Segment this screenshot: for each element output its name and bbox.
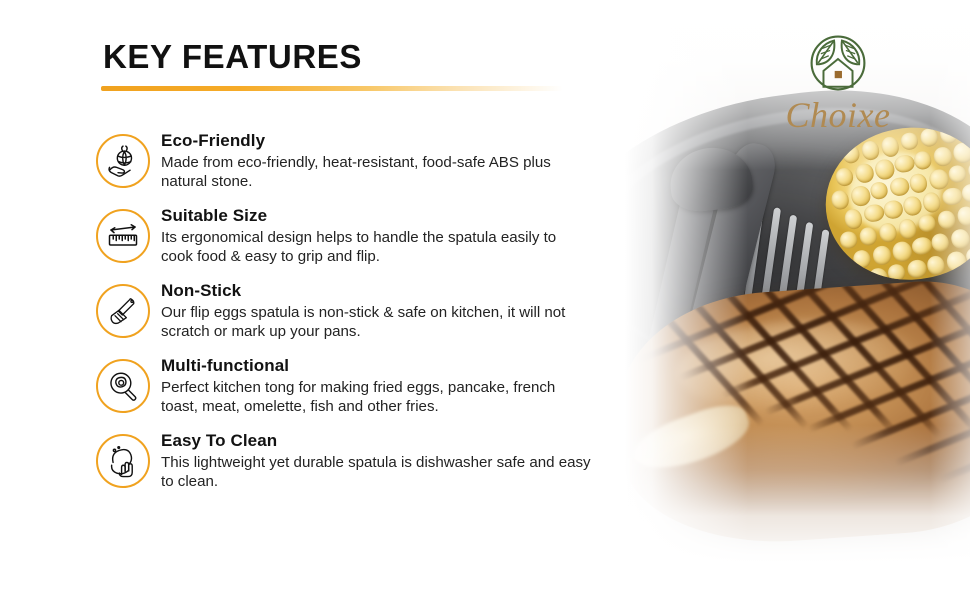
title-underline <box>101 86 563 91</box>
features-column: KEY FEATURES Eco-FriendlyMade from eco-f… <box>0 0 600 600</box>
leaf-house-circle-icon <box>805 30 871 96</box>
photo-fade-bottom <box>598 425 970 600</box>
feature-text: Eco-FriendlyMade from eco-friendly, heat… <box>150 130 591 192</box>
feature-text: Multi-functionalPerfect kitchen tong for… <box>150 355 591 417</box>
feature-item: Eco-FriendlyMade from eco-friendly, heat… <box>96 130 591 192</box>
eco-hand-globe-icon <box>96 134 150 188</box>
feature-item: Multi-functionalPerfect kitchen tong for… <box>96 355 591 417</box>
frying-pan-egg-icon <box>96 359 150 413</box>
feature-description: Our flip eggs spatula is non-stick & saf… <box>161 303 591 342</box>
feature-description: This lightweight yet durable spatula is … <box>161 453 591 492</box>
feature-title: Suitable Size <box>161 206 591 226</box>
feature-description: Its ergonomical design helps to handle t… <box>161 228 591 267</box>
feature-title: Multi-functional <box>161 356 591 376</box>
hand-sponge-clean-icon <box>96 434 150 488</box>
feature-list: Eco-FriendlyMade from eco-friendly, heat… <box>96 130 591 505</box>
feature-title: Eco-Friendly <box>161 131 591 151</box>
feature-text: Easy To CleanThis lightweight yet durabl… <box>150 430 591 492</box>
page-title: KEY FEATURES <box>103 38 362 76</box>
feature-item: Suitable Size Its ergonomical design hel… <box>96 205 591 267</box>
brand-logo: Choixe <box>768 30 908 136</box>
feature-description: Made from eco-friendly, heat-resistant, … <box>161 153 591 192</box>
feature-title: Easy To Clean <box>161 431 591 451</box>
feature-text: Suitable Size Its ergonomical design hel… <box>150 205 591 267</box>
brand-wordmark: Choixe <box>768 94 908 136</box>
feature-title: Non-Stick <box>161 281 591 301</box>
spatula-turner-icon <box>96 284 150 338</box>
feature-description: Perfect kitchen tong for making fried eg… <box>161 378 591 417</box>
feature-text: Non-StickOur flip eggs spatula is non-st… <box>150 280 591 342</box>
key-features-banner: Choixe KEY FEATURES Eco-FriendlyMade fro… <box>0 0 970 600</box>
photo-fade-right <box>930 0 970 600</box>
ruler-measure-icon <box>96 209 150 263</box>
feature-item: Easy To CleanThis lightweight yet durabl… <box>96 430 591 492</box>
feature-item: Non-StickOur flip eggs spatula is non-st… <box>96 280 591 342</box>
